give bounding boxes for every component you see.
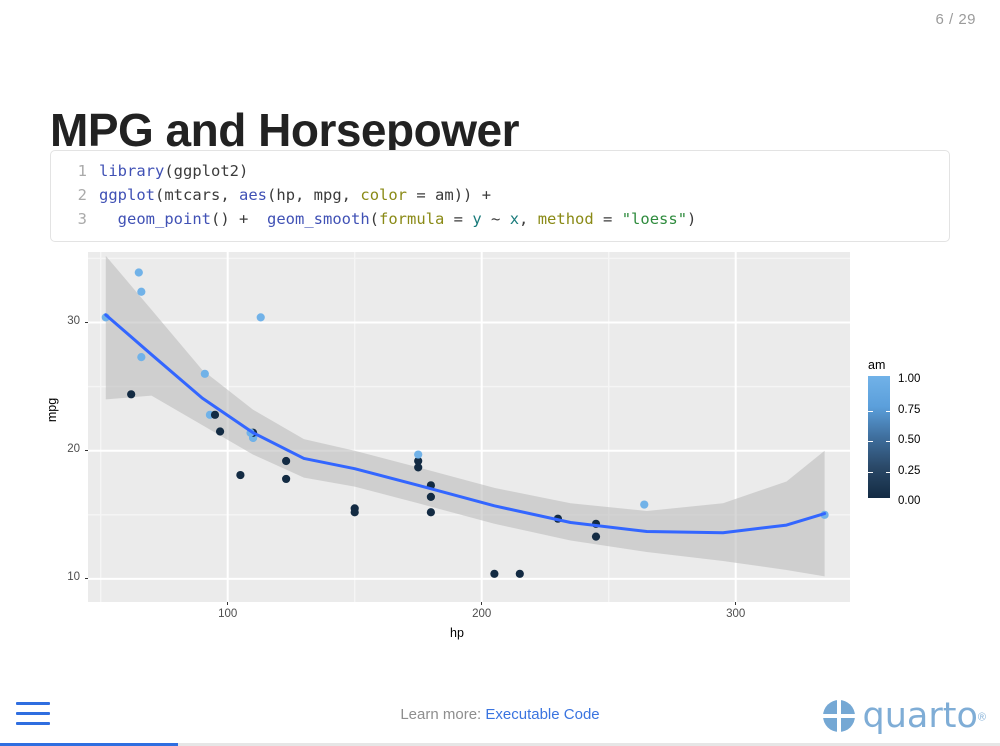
code-token-comma: ,: [519, 210, 538, 228]
registered-trademark-icon: ®: [978, 712, 986, 724]
code-token-eq: =: [594, 210, 622, 228]
code-line-2: 2ggplot(mtcars, aes(hp, mpg, color = am)…: [61, 183, 939, 207]
code-space: [248, 210, 267, 228]
y-axis-label: mpg: [45, 398, 59, 422]
page-counter: 6 / 29: [935, 11, 976, 28]
code-line-3: 3 geom_point() + geom_smooth(formula = y…: [61, 207, 939, 231]
legend-tick-label: 0.00: [898, 495, 920, 507]
x-tick-label: 100: [214, 608, 242, 620]
code-token-geom-point: geom_point: [118, 210, 211, 228]
code-token-y: y: [472, 210, 481, 228]
legend-tick-label: 1.00: [898, 373, 920, 385]
legend-tick-mark: [886, 411, 891, 412]
x-tick-mark: [227, 602, 228, 605]
y-tick-mark: [85, 322, 88, 323]
y-tick-label: 30: [52, 315, 80, 327]
code-token-paren: (: [267, 186, 276, 204]
code-indent: [99, 210, 118, 228]
legend-tick-mark-inner: [868, 411, 873, 412]
code-token-paren: (: [164, 162, 173, 180]
code-token-loess-string: "loess": [622, 210, 687, 228]
legend-tick-label: 0.75: [898, 404, 920, 416]
legend-tick-label: 0.50: [898, 434, 920, 446]
line-number: 3: [61, 207, 87, 231]
code-token-ggplot: ggplot: [99, 186, 155, 204]
code-token-ggplot2: ggplot2: [174, 162, 239, 180]
y-tick-mark: [85, 450, 88, 451]
x-tick-mark: [481, 602, 482, 605]
line-number: 1: [61, 159, 87, 183]
x-tick-label: 200: [468, 608, 496, 620]
code-token-formula-arg: formula: [379, 210, 444, 228]
code-token-plus: +: [239, 210, 248, 228]
y-tick-label: 10: [52, 571, 80, 583]
y-tick-label: 20: [52, 443, 80, 455]
y-tick-mark: [85, 578, 88, 579]
quarto-wordmark: quarto®: [863, 696, 986, 736]
ggplot-figure: 100200300102030 mpg hp am 1.000.750.500.…: [50, 248, 950, 648]
code-token-eq: =: [444, 210, 472, 228]
code-token-color-arg: color: [360, 186, 407, 204]
code-token-tilde: ~: [482, 210, 510, 228]
line-number: 2: [61, 183, 87, 207]
code-token-geom-smooth: geom_smooth: [267, 210, 370, 228]
quarto-logo: quarto®: [823, 696, 986, 736]
code-token-paren: (: [370, 210, 379, 228]
legend-tick-mark-inner: [868, 472, 873, 473]
legend: am 1.000.750.500.250.00: [868, 358, 948, 498]
quarto-mark-icon: [823, 700, 855, 732]
code-token-paren-close: ): [687, 210, 696, 228]
code-token-comma: ,: [220, 186, 239, 204]
legend-tick-label: 0.25: [898, 465, 920, 477]
learn-more-prefix: Learn more:: [400, 706, 481, 723]
plot-panel: [88, 252, 850, 602]
code-token-mtcars: mtcars: [164, 186, 220, 204]
code-token-plus: +: [482, 186, 491, 204]
legend-tick-mark-inner: [868, 441, 873, 442]
code-token-am: am)): [435, 186, 482, 204]
legend-tick-mark: [886, 441, 891, 442]
plot-svg: [88, 252, 850, 602]
code-token-x: x: [510, 210, 519, 228]
code-token-library: library: [99, 162, 164, 180]
quarto-word: quarto: [863, 696, 978, 736]
x-tick-label: 300: [722, 608, 750, 620]
code-token-method-arg: method: [538, 210, 594, 228]
code-token-eq: =: [407, 186, 435, 204]
code-block: 1library(ggplot2) 2ggplot(mtcars, aes(hp…: [50, 150, 950, 242]
code-token-aes: aes: [239, 186, 267, 204]
legend-title: am: [868, 358, 948, 372]
executable-code-link[interactable]: Executable Code: [485, 706, 599, 723]
code-token-paren-close: ): [239, 162, 248, 180]
page-title: MPG and Horsepower: [50, 103, 519, 157]
x-axis-label: hp: [450, 626, 464, 640]
code-token-parens: (): [211, 210, 239, 228]
code-token-hp: hp, mpg,: [276, 186, 360, 204]
slide: 6 / 29 MPG and Horsepower 1library(ggplo…: [0, 0, 1000, 746]
x-tick-mark: [735, 602, 736, 605]
legend-tick-mark: [886, 472, 891, 473]
code-line-1: 1library(ggplot2): [61, 159, 939, 183]
legend-colorbar: [868, 376, 890, 498]
code-token-paren: (: [155, 186, 164, 204]
menu-bar-1: [16, 702, 50, 705]
slide-footer: Learn more: Executable Code quarto®: [0, 690, 1000, 746]
